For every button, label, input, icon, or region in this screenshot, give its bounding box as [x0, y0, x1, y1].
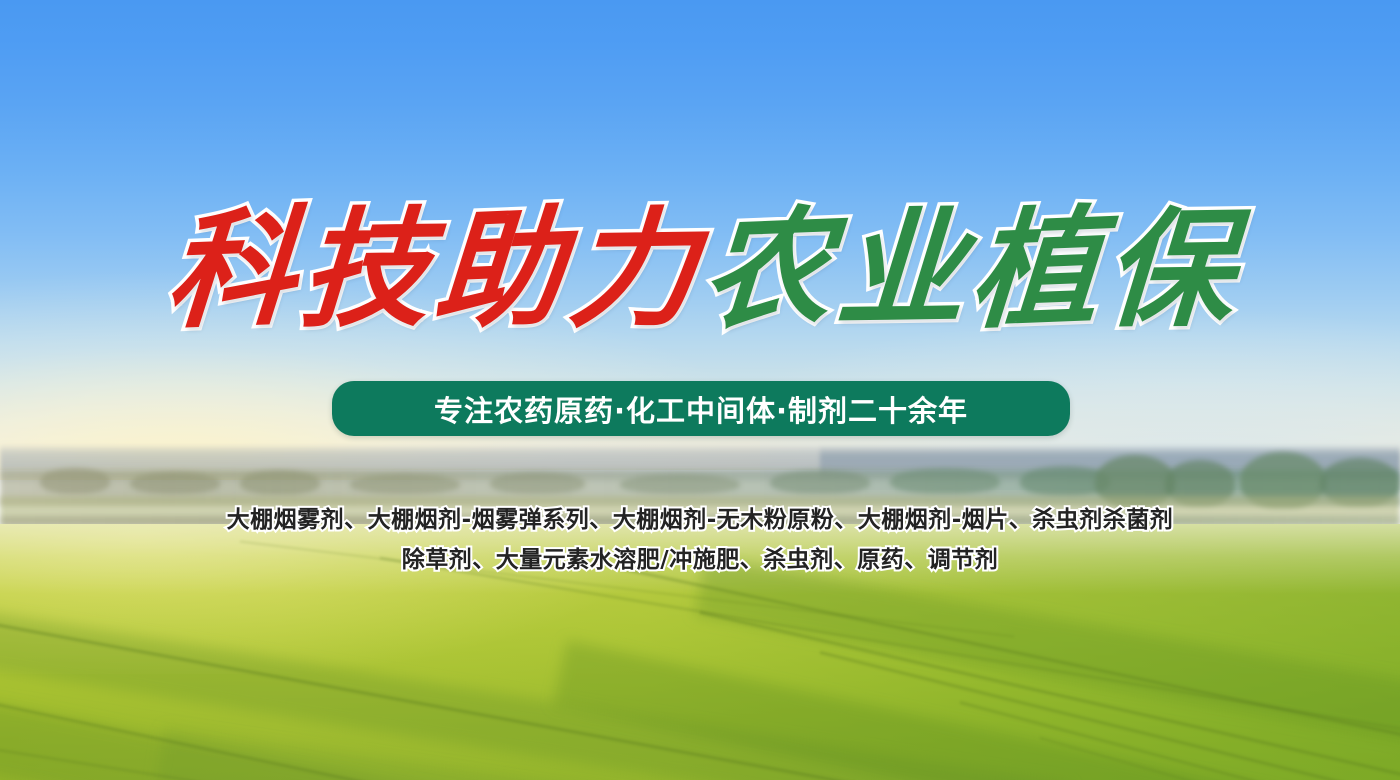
headline-char-6: 业 — [833, 205, 968, 335]
subtitle-pill: 专注农药原药·化工中间体·制剂二十余年 — [332, 381, 1070, 436]
headline-char-5: 农 — [699, 204, 836, 337]
product-line-1: 大棚烟雾剂、大棚烟剂-烟雾弹系列、大棚烟剂-无木粉原粉、大棚烟剂-烟片、杀虫剂杀… — [0, 500, 1400, 540]
tree-silhouette — [770, 470, 870, 494]
tree-silhouette — [890, 468, 1000, 494]
tree-silhouette — [240, 470, 320, 495]
tree-silhouette — [40, 468, 110, 494]
tree-silhouette — [130, 472, 220, 494]
subtitle-text: 专注农药原药·化工中间体·制剂二十余年 — [434, 388, 968, 430]
headline-char-3: 助 — [430, 204, 567, 337]
headline-char-1: 科 — [162, 204, 299, 337]
product-line-2: 除草剂、大量元素水溶肥/冲施肥、杀虫剂、原药、调节剂 — [0, 540, 1400, 580]
tree-silhouette — [490, 472, 585, 494]
headline-char-7: 植 — [967, 204, 1104, 337]
headline-char-8: 保 — [1101, 205, 1236, 335]
headline-char-4: 力 — [565, 205, 700, 335]
headline-char-2: 技 — [297, 205, 432, 335]
headline: 科技助力农业植保 — [0, 206, 1400, 334]
tree-silhouette — [350, 474, 460, 494]
promotional-banner: 科技助力农业植保 专注农药原药·化工中间体·制剂二十余年 大棚烟雾剂、大棚烟剂-… — [0, 0, 1400, 780]
product-list: 大棚烟雾剂、大棚烟剂-烟雾弹系列、大棚烟剂-无木粉原粉、大棚烟剂-烟片、杀虫剂杀… — [0, 500, 1400, 580]
tree-silhouette — [620, 474, 740, 494]
